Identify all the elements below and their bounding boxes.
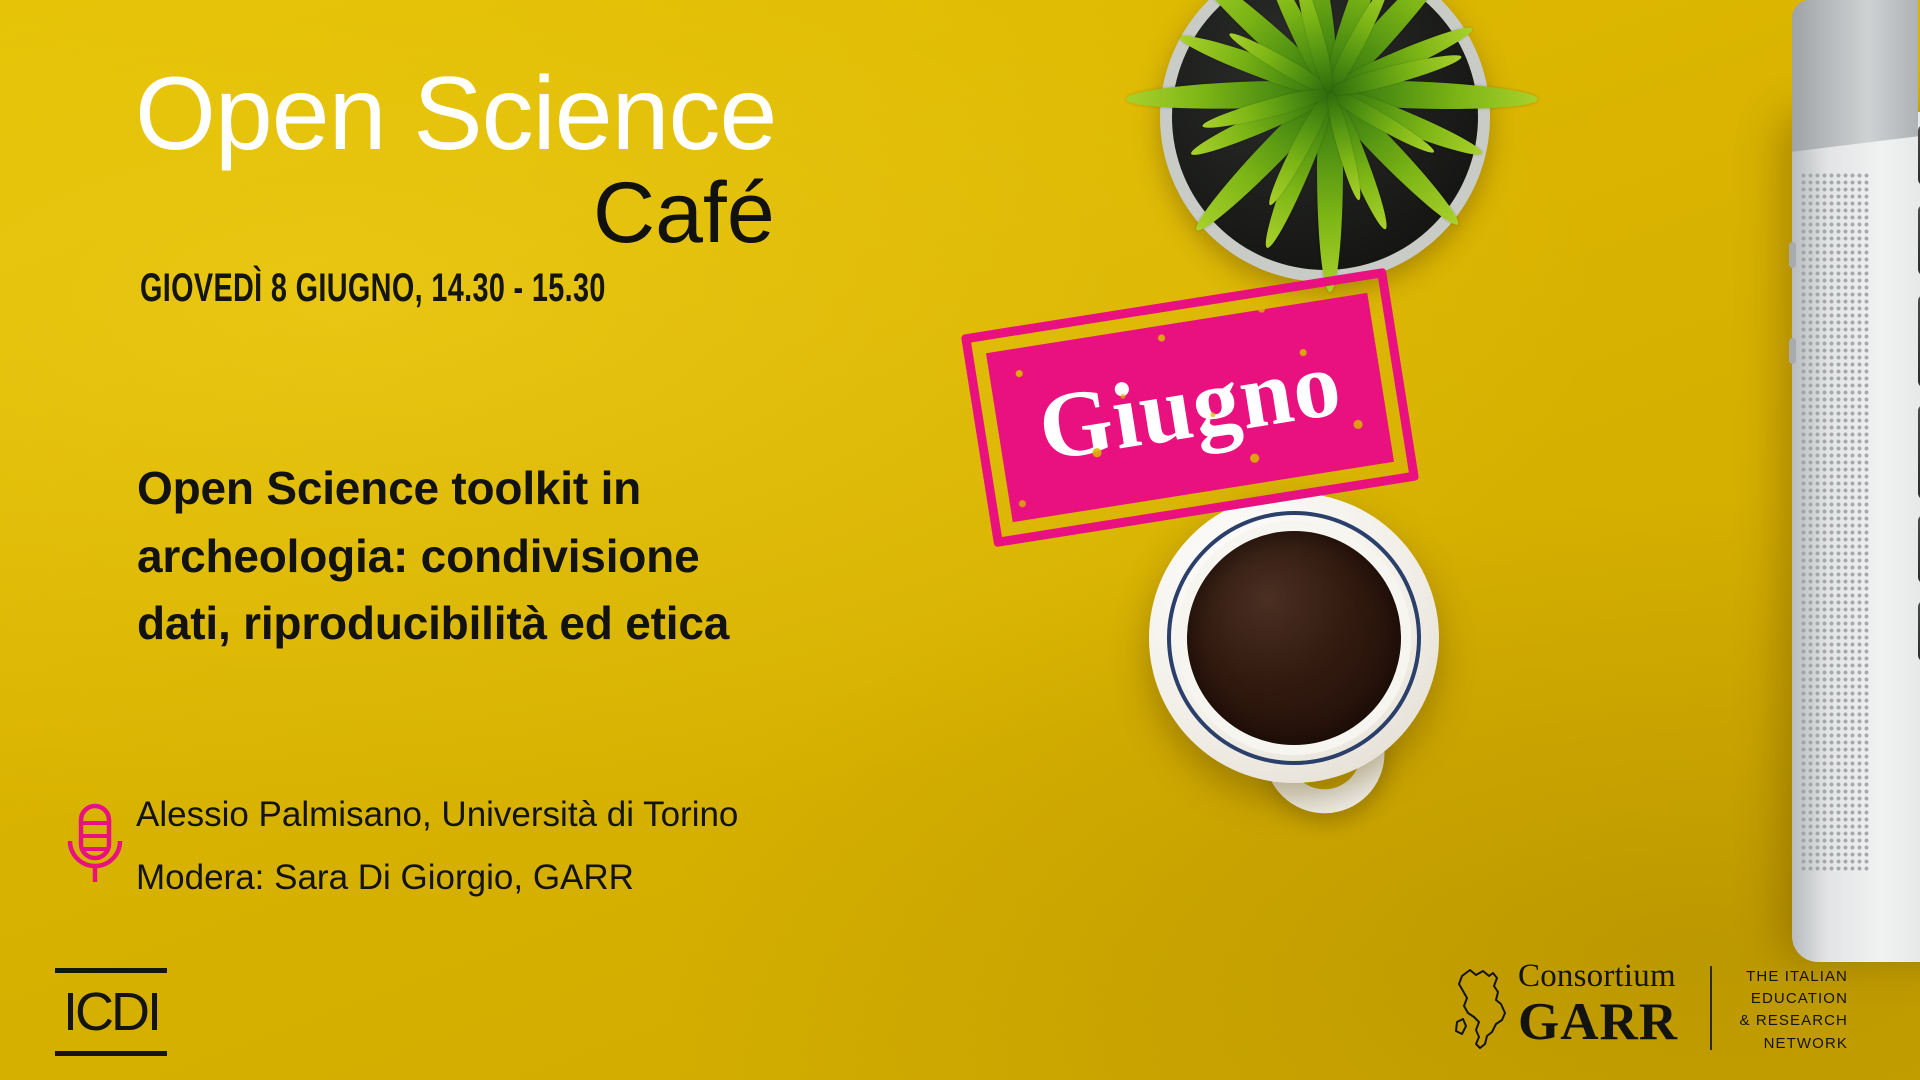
- talk-title: Open Science toolkit in archeologia: con…: [137, 455, 777, 658]
- garr-tagline-line: EDUCATION: [1728, 988, 1848, 1010]
- microphone-icon: [64, 803, 126, 885]
- garr-wordmark: Consortium GARR: [1518, 960, 1698, 1049]
- event-datetime: GIOVEDÌ 8 GIUGNO, 14.30 - 15.30: [140, 266, 606, 311]
- icdi-rule-top: [55, 968, 167, 973]
- icdi-rule-bottom: [55, 1051, 167, 1056]
- garr-consortium-text: Consortium: [1518, 960, 1698, 993]
- icdi-wordmark: ICDI: [52, 982, 170, 1042]
- poster-canvas: ⏻delete| /enter returnshift◀ Giugno Open…: [0, 0, 1920, 1080]
- garr-divider: [1710, 966, 1712, 1050]
- laptop-port: [1789, 242, 1796, 268]
- coffee-cup: [1139, 489, 1469, 819]
- title-cafe: Café: [135, 170, 955, 256]
- laptop-screen-edge: [1792, 0, 1918, 152]
- laptop: ⏻delete| /enter returnshift◀: [1792, 112, 1920, 962]
- coffee-liquid: [1187, 531, 1401, 745]
- speaker-name: Alessio Palmisano, Università di Torino: [136, 797, 880, 832]
- page-title: Open Science Café: [135, 62, 955, 256]
- garr-logo: Consortium GARR THE ITALIANEDUCATION& RE…: [1452, 958, 1792, 1062]
- garr-tagline: THE ITALIANEDUCATION& RESEARCHNETWORK: [1728, 966, 1848, 1055]
- garr-name-text: GARR: [1518, 995, 1698, 1049]
- garr-tagline-line: NETWORK: [1728, 1033, 1848, 1055]
- speakers-block: Alessio Palmisano, Università di Torino …: [60, 797, 880, 895]
- garr-tagline-line: THE ITALIAN: [1728, 966, 1848, 988]
- laptop-speaker-grille: [1800, 172, 1870, 872]
- laptop-port: [1789, 338, 1796, 364]
- italy-map-icon: [1452, 964, 1514, 1054]
- moderator-name: Modera: Sara Di Giorgio, GARR: [136, 860, 880, 895]
- content-column: Open Science Café GIOVEDÌ 8 GIUGNO, 14.3…: [0, 0, 1000, 1080]
- potted-plant: [1090, 0, 1570, 302]
- title-open-science: Open Science: [135, 62, 955, 166]
- garr-tagline-line: & RESEARCH: [1728, 1010, 1848, 1032]
- icdi-logo: ICDI: [52, 968, 170, 1056]
